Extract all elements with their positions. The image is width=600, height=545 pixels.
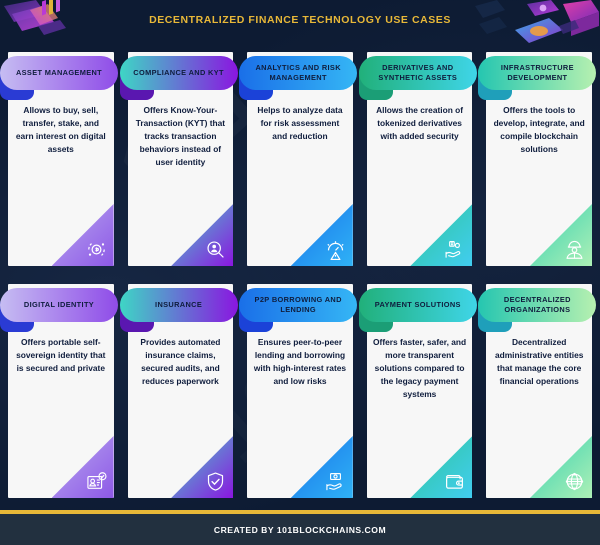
use-case-card-decentralized-organizations[interactable]: DECENTRALIZED ORGANIZATIONSDecentralized… [486,284,592,498]
use-case-card-infrastructure-development[interactable]: INFRASTRUCTURE DEVELOPMENTOffers the too… [486,52,592,266]
card-description: Offers the tools to develop, integrate, … [492,104,586,156]
card-description: Offers portable self-sovereign identity … [14,336,108,375]
card-title-text: INSURANCE [155,300,202,310]
card-title-pill[interactable]: INSURANCE [120,288,238,322]
wallet-icon [444,471,465,492]
card-title-text: DIGITAL IDENTITY [24,300,94,310]
card-title-pill[interactable]: ASSET MANAGEMENT [0,56,118,90]
card-description: Allows the creation of tokenized derivat… [373,104,467,143]
card-title-text: INFRASTRUCTURE DEVELOPMENT [484,63,590,83]
card-title-text: ANALYTICS AND RISK MANAGEMENT [245,63,351,83]
card-title-pill[interactable]: INFRASTRUCTURE DEVELOPMENT [478,56,596,90]
card-description: Helps to analyze data for risk assessmen… [253,104,347,143]
use-case-card-analytics-and-risk-management[interactable]: ANALYTICS AND RISK MANAGEMENTHelps to an… [247,52,353,266]
use-case-card-payment-solutions[interactable]: PAYMENT SOLUTIONSOffers faster, safer, a… [367,284,473,498]
card-title-pill[interactable]: PAYMENT SOLUTIONS [359,288,477,322]
engineer-worker-icon [564,239,585,260]
coin-orbit-icon [86,239,107,260]
use-case-card-asset-management[interactable]: ASSET MANAGEMENTAllows to buy, sell, tra… [8,52,114,266]
card-title-text: ASSET MANAGEMENT [16,68,102,78]
globe-network-icon [564,471,585,492]
card-description: Offers faster, safer, and more transpare… [373,336,467,401]
use-case-card-p2p-borrowing-and-lending[interactable]: P2P BORROWING AND LENDINGEnsures peer-to… [247,284,353,498]
page-title: DECENTRALIZED FINANCE TECHNOLOGY USE CAS… [0,14,600,26]
risk-alert-gauge-icon [325,239,346,260]
card-title-pill[interactable]: DIGITAL IDENTITY [0,288,118,322]
footer-credit-text: CREATED BY 101BLOCKCHAINS.COM [214,525,386,535]
card-title-text: PAYMENT SOLUTIONS [375,300,461,310]
hand-money-exchange-icon [325,471,346,492]
card-title-pill[interactable]: DECENTRALIZED ORGANIZATIONS [478,288,596,322]
card-title-text: COMPLIANCE AND KYT [133,68,224,78]
card-description: Decentralized administrative entities th… [492,336,586,388]
card-grid: ASSET MANAGEMENTAllows to buy, sell, tra… [8,52,592,498]
infographic-poster: 101 101 [0,0,600,545]
card-description: Allows to buy, sell, transfer, stake, an… [14,104,108,156]
footer: CREATED BY 101BLOCKCHAINS.COM [0,514,600,545]
hand-holding-coins-icon [444,239,465,260]
card-title-pill[interactable]: COMPLIANCE AND KYT [120,56,238,90]
card-description: Provides automated insurance claims, sec… [134,336,228,388]
isometric-mobile-wallet-illustration [475,0,600,52]
card-row-1: ASSET MANAGEMENTAllows to buy, sell, tra… [8,52,592,266]
header: DECENTRALIZED FINANCE TECHNOLOGY USE CAS… [0,0,600,48]
use-case-card-digital-identity[interactable]: DIGITAL IDENTITYOffers portable self-sov… [8,284,114,498]
card-title-text: DERIVATIVES AND SYNTHETIC ASSETS [365,63,471,83]
card-row-2: DIGITAL IDENTITYOffers portable self-sov… [8,284,592,498]
card-description: Offers Know-Your-Transaction (KYT) that … [134,104,228,169]
use-case-card-insurance[interactable]: INSURANCEProvides automated insurance cl… [128,284,234,498]
id-card-check-icon [86,471,107,492]
card-title-text: P2P BORROWING AND LENDING [245,295,351,315]
magnifier-user-icon [205,239,226,260]
card-title-pill[interactable]: DERIVATIVES AND SYNTHETIC ASSETS [359,56,477,90]
use-case-card-compliance-and-kyt[interactable]: COMPLIANCE AND KYTOffers Know-Your-Trans… [128,52,234,266]
card-title-pill[interactable]: ANALYTICS AND RISK MANAGEMENT [239,56,357,90]
use-case-card-derivatives-and-synthetic-assets[interactable]: DERIVATIVES AND SYNTHETIC ASSETSAllows t… [367,52,473,266]
shield-check-icon [205,471,226,492]
card-title-pill[interactable]: P2P BORROWING AND LENDING [239,288,357,322]
card-title-text: DECENTRALIZED ORGANIZATIONS [484,295,590,315]
card-description: Ensures peer-to-peer lending and borrowi… [253,336,347,388]
